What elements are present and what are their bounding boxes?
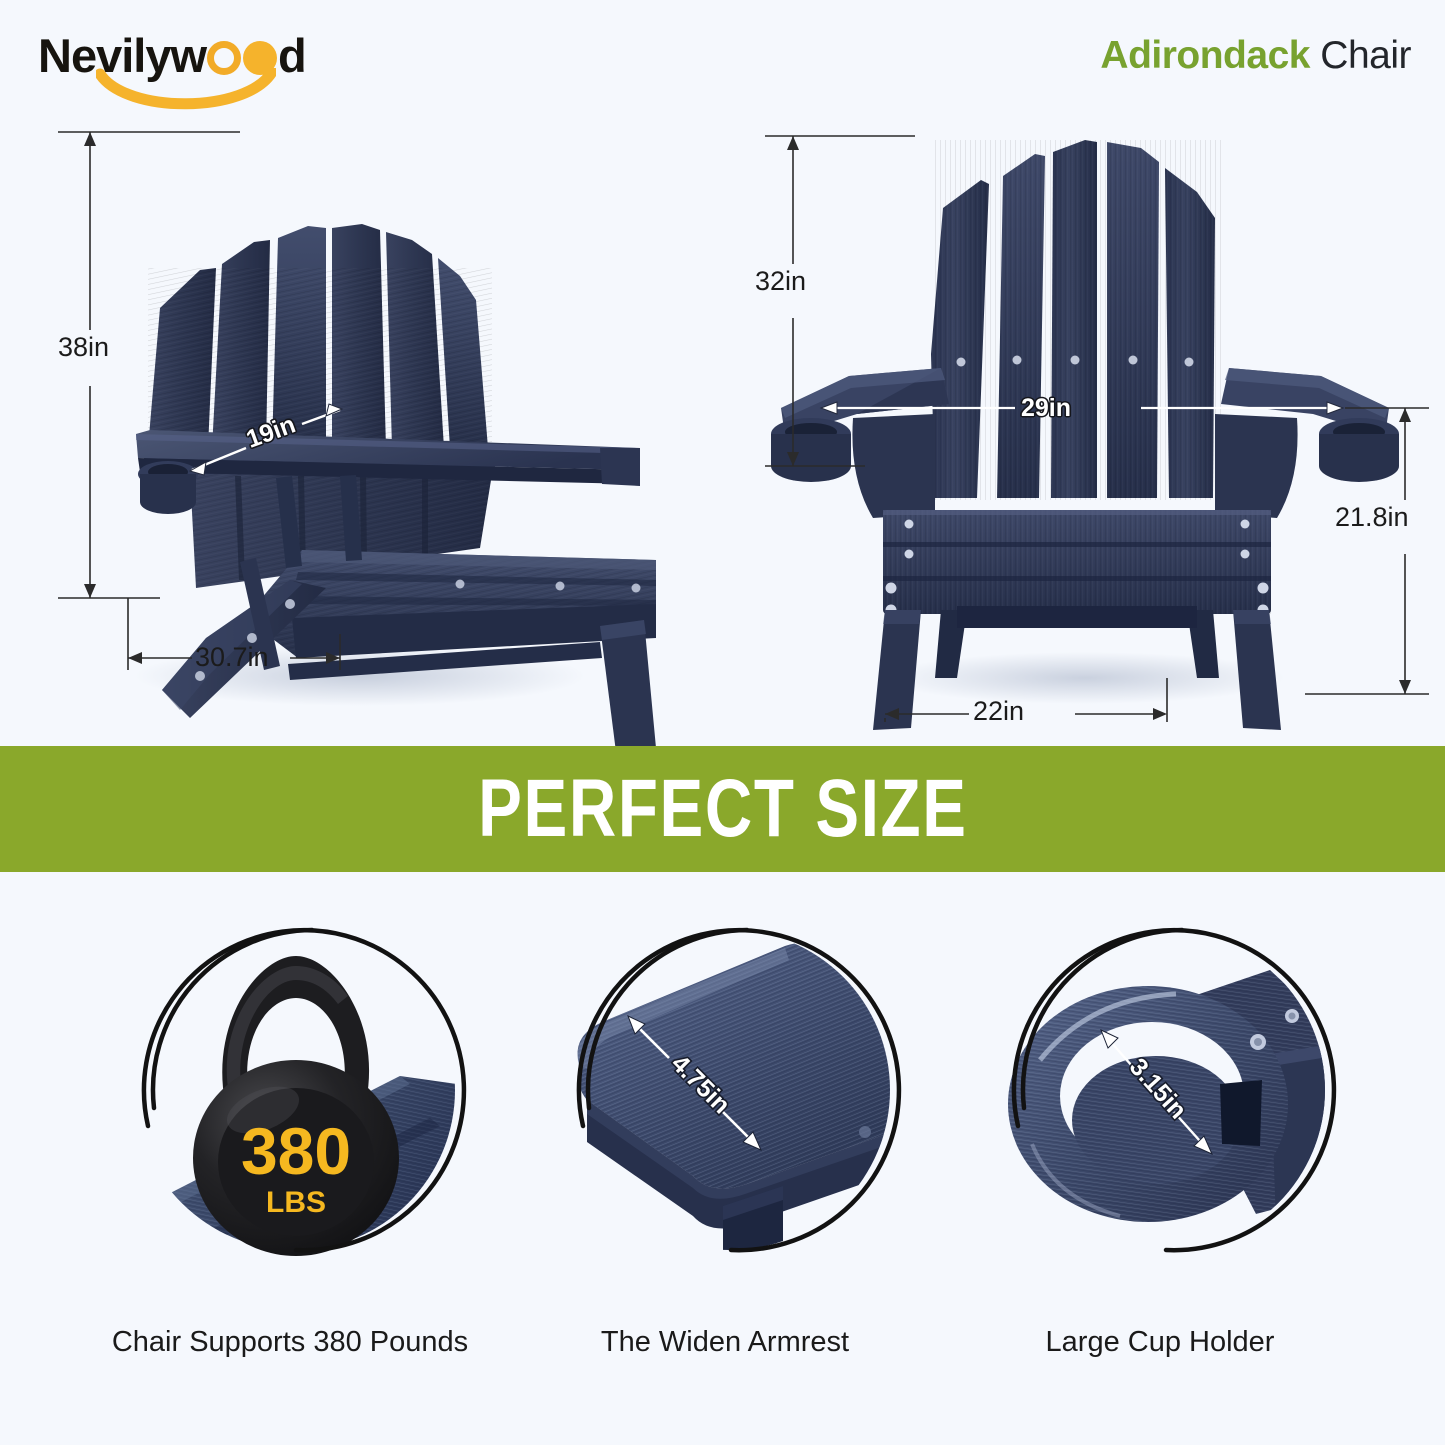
chair-side-view-stage: 38in 19in 30.7in (40, 118, 740, 746)
dim-label-arm-width: 29in (1021, 394, 1071, 423)
dimension-diagram-panel: 38in 19in 30.7in (0, 118, 1445, 746)
chair-side-view-illustration (40, 118, 740, 746)
feature-image-armrest: 4.75in (535, 894, 925, 1294)
chair-front-view-stage: 32in 29in 21.8in 22in (745, 118, 1445, 746)
logo-smile-icon (96, 68, 276, 112)
logo-text-after: d (278, 29, 306, 82)
dim-label-depth: 30.7in (195, 642, 269, 673)
feature-cup-holder: 3.15in Large Cup Holder (950, 894, 1370, 1434)
product-infographic: Nevilywd Adirondack Chair (0, 0, 1445, 1445)
feature-image-cupholder: 3.15in (970, 894, 1360, 1294)
chair-front-back-slats (931, 140, 1221, 500)
dim-label-back-height: 32in (755, 266, 806, 297)
dim-label-base-width: 22in (973, 696, 1024, 727)
chair-front-view-illustration (745, 118, 1445, 746)
perfect-size-banner: PERFECT SIZE (0, 746, 1445, 872)
brand-logo: Nevilywd (38, 28, 338, 112)
feature-widen-armrest: 4.75in The Widen Armrest (515, 894, 935, 1434)
feature-weight-capacity: 380 LBS Chair Supports 380 Pounds (80, 894, 500, 1434)
product-title-type: Chair (1310, 34, 1411, 77)
feature-caption-weight: Chair Supports 380 Pounds (80, 1326, 500, 1359)
chair-front-leg (600, 620, 656, 746)
banner-title: PERFECT SIZE (478, 768, 967, 850)
chair-front-seat-boards (883, 510, 1271, 616)
feature-caption-cupholder: Large Cup Holder (950, 1326, 1370, 1359)
kettlebell-weight-unit: LBS (266, 1186, 326, 1219)
feature-image-weight: 380 LBS (100, 894, 490, 1294)
feature-caption-armrest: The Widen Armrest (515, 1326, 935, 1359)
dim-label-side-height: 21.8in (1335, 502, 1409, 533)
product-title: Adirondack Chair (1100, 34, 1411, 78)
product-title-brand: Adirondack (1100, 34, 1310, 77)
cup-holder-detail (138, 461, 198, 514)
features-panel: 380 LBS Chair Supports 380 Pounds (0, 872, 1445, 1445)
header: Nevilywd Adirondack Chair (0, 0, 1445, 120)
kettlebell-weight-number: 380 (241, 1114, 351, 1188)
dim-label-height: 38in (58, 332, 109, 363)
